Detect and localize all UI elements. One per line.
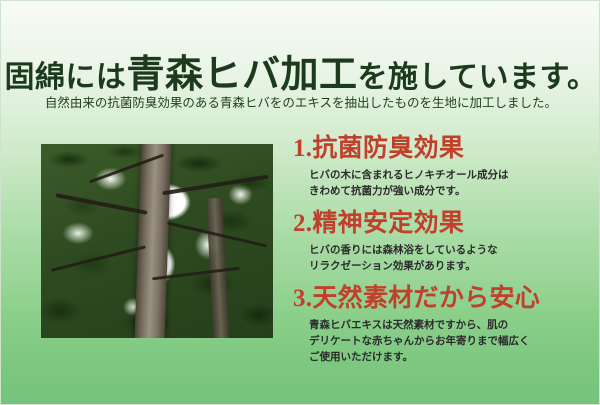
benefit-description-line: ヒバの木に含まれるヒノキチオール成分は	[309, 167, 593, 183]
hiba-forest-photo	[41, 144, 273, 338]
benefit-heading-1: 1.抗菌防臭効果	[293, 134, 593, 164]
benefit-number-3: 3.	[293, 285, 312, 312]
benefit-description-line: きわめて抗菌力が強い成分です。	[309, 183, 593, 199]
benefit-description-line: 青森ヒバエキスは天然素材ですから、肌の	[309, 317, 593, 333]
benefit-description-line: ヒバの香りには森林浴をしているような	[309, 242, 593, 258]
benefit-title-3: 天然素材だから安心	[312, 285, 540, 312]
benefit-description-3: 青森ヒバエキスは天然素材ですから、肌の デリケートな赤ちゃんからお年寄りまで幅広…	[293, 317, 593, 366]
benefit-description-line: リラクゼーション効果があります。	[309, 258, 593, 274]
advertisement-banner: 固綿には青森ヒバ加工を施しています。 自然由来の抗菌防臭効果のある青森ヒバをのエ…	[0, 0, 600, 405]
subtitle: 自然由来の抗菌防臭効果のある青森ヒバをのエキスを抽出したものを生地に加工しました…	[1, 92, 600, 111]
benefit-heading-3: 3.天然素材だから安心	[293, 284, 593, 314]
benefit-description-1: ヒバの木に含まれるヒノキチオール成分は きわめて抗菌力が強い成分です。	[293, 167, 593, 200]
benefit-list: 1.抗菌防臭効果 ヒバの木に含まれるヒノキチオール成分は きわめて抗菌力が強い成…	[293, 134, 593, 371]
benefit-heading-2: 2.精神安定効果	[293, 209, 593, 239]
title-emphasis: 青森ヒバ加工	[126, 54, 357, 96]
benefit-item-1: 1.抗菌防臭効果 ヒバの木に含まれるヒノキチオール成分は きわめて抗菌力が強い成…	[293, 134, 593, 199]
title-tail: を施しています。	[357, 61, 597, 94]
benefit-description-line: デリケートな赤ちゃんからお年寄りまで幅広く	[309, 333, 593, 349]
benefit-title-1: 抗菌防臭効果	[312, 135, 464, 162]
benefit-number-2: 2.	[293, 210, 312, 237]
benefit-description-line: ご使用いただけます。	[309, 349, 593, 365]
benefit-title-2: 精神安定効果	[312, 210, 464, 237]
title-lead: 固綿には	[4, 61, 126, 94]
benefit-number-1: 1.	[293, 135, 312, 162]
benefit-item-3: 3.天然素材だから安心 青森ヒバエキスは天然素材ですから、肌の デリケートな赤ち…	[293, 284, 593, 365]
benefit-item-2: 2.精神安定効果 ヒバの香りには森林浴をしているような リラクゼーション効果があ…	[293, 209, 593, 274]
page-title: 固綿には青森ヒバ加工を施しています。	[1, 43, 600, 98]
benefit-description-2: ヒバの香りには森林浴をしているような リラクゼーション効果があります。	[293, 242, 593, 275]
